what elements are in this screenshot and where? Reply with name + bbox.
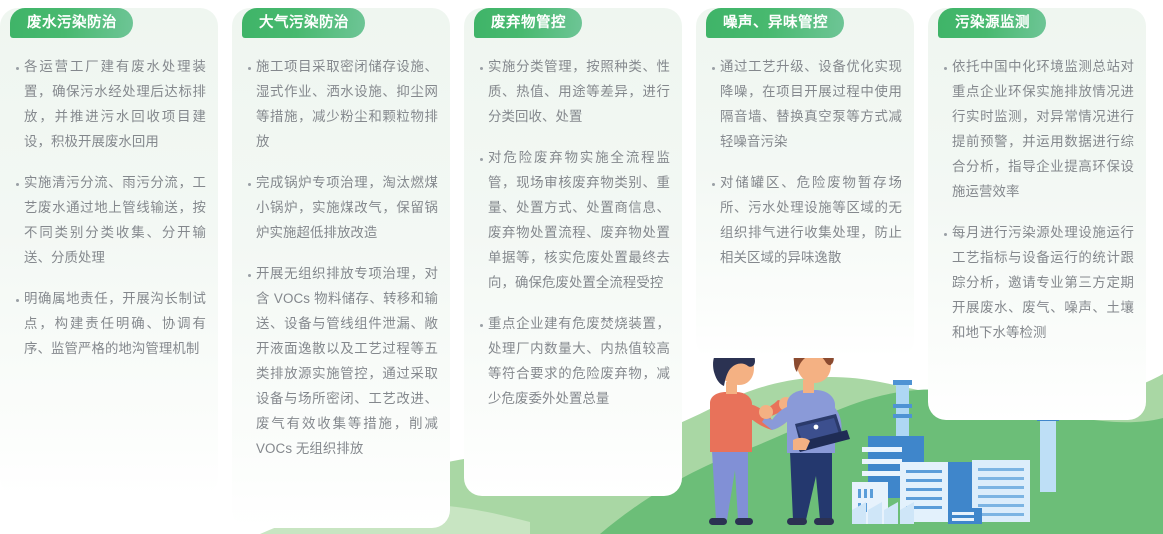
card-title: 污染源监测: [955, 16, 1030, 31]
card-header-waste-management: 废弃物管控: [474, 8, 582, 38]
card-waste-management: 废弃物管控 实施分类管理，按照种类、性质、热值、用途等差异，进行分类回收、处置 …: [464, 8, 682, 496]
card-noise-odor: 噪声、异味管控 通过工艺升级、设备优化实现降噪，在项目开展过程中使用隔音墙、替换…: [696, 8, 914, 358]
list-item: 重点企业建有危废焚烧装置，处理厂内数量大、内热值较高等符合要求的危险废弃物，减少…: [474, 311, 670, 411]
list-item: 每月进行污染源处理设施运行工艺指标与设备运行的统计跟踪分析，邀请专业第三方定期开…: [938, 220, 1134, 345]
bullet-text: 重点企业建有危废焚烧装置，处理厂内数量大、内热值较高等符合要求的危险废弃物，减少…: [488, 311, 670, 411]
bullet-dot-icon: [10, 286, 24, 304]
card-body-noise-odor: 通过工艺升级、设备优化实现降噪，在项目开展过程中使用隔音墙、替换真空泵等方式减轻…: [696, 46, 914, 284]
card-header-noise-odor: 噪声、异味管控: [706, 8, 844, 38]
card-header-wastewater: 废水污染防治: [10, 8, 133, 38]
list-item: 各运营工厂建有废水处理装置，确保污水经处理后达标排放，并推进污水回收项目建设，积…: [10, 54, 206, 154]
card-title: 废水污染防治: [27, 16, 117, 31]
list-item: 通过工艺升级、设备优化实现降噪，在项目开展过程中使用隔音墙、替换真空泵等方式减轻…: [706, 54, 902, 154]
list-item: 明确属地责任，开展沟长制试点，构建责任明确、协调有序、监管严格的地沟管理机制: [10, 286, 206, 361]
list-item: 依托中国中化环境监测总站对重点企业环保实施排放情况进行实时监测，对异常情况进行提…: [938, 54, 1134, 204]
list-item: 实施分类管理，按照种类、性质、热值、用途等差异，进行分类回收、处置: [474, 54, 670, 129]
bullet-text: 各运营工厂建有废水处理装置，确保污水经处理后达标排放，并推进污水回收项目建设，积…: [24, 54, 206, 154]
list-item: 实施清污分流、雨污分流，工艺废水通过地上管线输送，按不同类别分类收集、分开输送、…: [10, 170, 206, 270]
card-air-pollution: 大气污染防治 施工项目采取密闭储存设施、湿式作业、洒水设施、抑尘网等措施，减少粉…: [232, 8, 450, 528]
card-body-source-monitoring: 依托中国中化环境监测总站对重点企业环保实施排放情况进行实时监测，对异常情况进行提…: [928, 46, 1146, 359]
infographic-root: 废水污染防治 各运营工厂建有废水处理装置，确保污水经处理后达标排放，并推进污水回…: [0, 0, 1163, 534]
bullet-dot-icon: [474, 54, 488, 72]
bullet-text: 实施分类管理，按照种类、性质、热值、用途等差异，进行分类回收、处置: [488, 54, 670, 129]
bullet-text: 完成锅炉专项治理，淘汰燃煤小锅炉，实施煤改气，保留锅炉实施超低排放改造: [256, 170, 438, 245]
card-title: 废弃物管控: [491, 16, 566, 31]
bullet-dot-icon: [10, 54, 24, 72]
list-item: 完成锅炉专项治理，淘汰燃煤小锅炉，实施煤改气，保留锅炉实施超低排放改造: [242, 170, 438, 245]
card-body-wastewater: 各运营工厂建有废水处理装置，确保污水经处理后达标排放，并推进污水回收项目建设，积…: [0, 46, 218, 375]
card-body-waste-management: 实施分类管理，按照种类、性质、热值、用途等差异，进行分类回收、处置 对危险废弃物…: [464, 46, 682, 425]
card-header-air-pollution: 大气污染防治: [242, 8, 365, 38]
bullet-text: 每月进行污染源处理设施运行工艺指标与设备运行的统计跟踪分析，邀请专业第三方定期开…: [952, 220, 1134, 345]
list-item: 对储罐区、危险废物暂存场所、污水处理设施等区域的无组织排气进行收集处理，防止相关…: [706, 170, 902, 270]
bullet-text: 对危险废弃物实施全流程监管，现场审核废弃物类别、重量、处置方式、处置商信息、废弃…: [488, 145, 670, 295]
bullet-dot-icon: [474, 311, 488, 329]
bullet-text: 对储罐区、危险废物暂存场所、污水处理设施等区域的无组织排气进行收集处理，防止相关…: [720, 170, 902, 270]
card-wastewater: 废水污染防治 各运营工厂建有废水处理装置，确保污水经处理后达标排放，并推进污水回…: [0, 8, 218, 496]
bullet-text: 通过工艺升级、设备优化实现降噪，在项目开展过程中使用隔音墙、替换真空泵等方式减轻…: [720, 54, 902, 154]
bullet-text: 依托中国中化环境监测总站对重点企业环保实施排放情况进行实时监测，对异常情况进行提…: [952, 54, 1134, 204]
bullet-dot-icon: [10, 170, 24, 188]
card-title: 噪声、异味管控: [723, 16, 828, 31]
bullet-dot-icon: [474, 145, 488, 163]
bullet-dot-icon: [706, 54, 720, 72]
card-header-source-monitoring: 污染源监测: [938, 8, 1046, 38]
bullet-dot-icon: [242, 170, 256, 188]
bullet-text: 开展无组织排放专项治理，对含 VOCs 物料储存、转移和输送、设备与管线组件泄漏…: [256, 261, 438, 461]
bullet-text: 实施清污分流、雨污分流，工艺废水通过地上管线输送，按不同类别分类收集、分开输送、…: [24, 170, 206, 270]
card-grid: 废水污染防治 各运营工厂建有废水处理装置，确保污水经处理后达标排放，并推进污水回…: [0, 0, 1163, 534]
list-item: 开展无组织排放专项治理，对含 VOCs 物料储存、转移和输送、设备与管线组件泄漏…: [242, 261, 438, 461]
list-item: 对危险废弃物实施全流程监管，现场审核废弃物类别、重量、处置方式、处置商信息、废弃…: [474, 145, 670, 295]
card-title: 大气污染防治: [259, 16, 349, 31]
bullet-dot-icon: [706, 170, 720, 188]
card-body-air-pollution: 施工项目采取密闭储存设施、湿式作业、洒水设施、抑尘网等措施，减少粉尘和颗粒物排放…: [232, 46, 450, 475]
bullet-dot-icon: [242, 54, 256, 72]
bullet-dot-icon: [242, 261, 256, 279]
bullet-dot-icon: [938, 54, 952, 72]
bullet-text: 施工项目采取密闭储存设施、湿式作业、洒水设施、抑尘网等措施，减少粉尘和颗粒物排放: [256, 54, 438, 154]
bullet-dot-icon: [938, 220, 952, 238]
list-item: 施工项目采取密闭储存设施、湿式作业、洒水设施、抑尘网等措施，减少粉尘和颗粒物排放: [242, 54, 438, 154]
card-source-monitoring: 污染源监测 依托中国中化环境监测总站对重点企业环保实施排放情况进行实时监测，对异…: [928, 8, 1146, 420]
bullet-text: 明确属地责任，开展沟长制试点，构建责任明确、协调有序、监管严格的地沟管理机制: [24, 286, 206, 361]
